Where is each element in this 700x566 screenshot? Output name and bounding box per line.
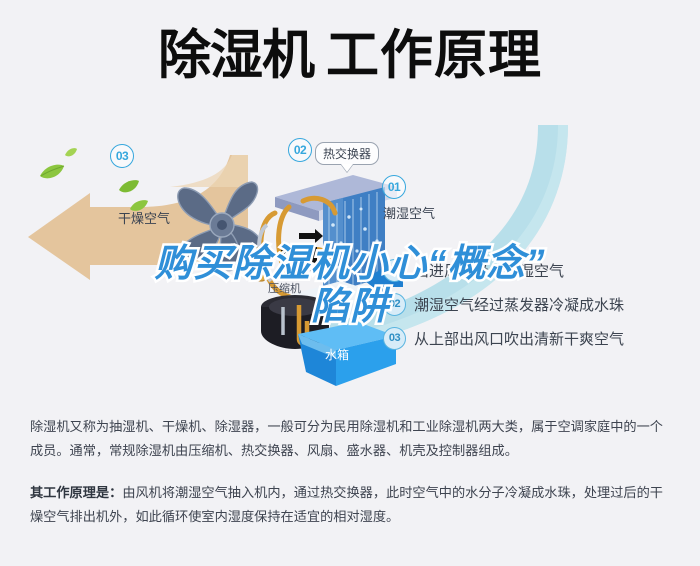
legend-badge: 03 <box>383 327 406 350</box>
callout-heat-exchanger-text: 热交换器 <box>323 147 371 161</box>
legend-item: 03 从上部出风口吹出清新干爽空气 <box>383 321 683 355</box>
leaf-icon <box>38 162 66 182</box>
title-part-1: 除湿机 <box>158 26 314 85</box>
title-part-2: 工作原理 <box>326 26 542 85</box>
article-body: 除湿机又称为抽湿机、干燥机、除湿器，一般可分为民用除湿机和工业除湿机两大类，属于… <box>30 415 675 547</box>
paragraph-2-rest: 由风机将潮湿空气抽入机内，通过热交换器，此时空气中的水分子冷凝成水珠，处理过后的… <box>30 485 663 524</box>
badge-intake-01: 01 <box>382 175 406 199</box>
paragraph-2: 其工作原理是：由风机将潮湿空气抽入机内，通过热交换器，此时空气中的水分子冷凝成水… <box>30 481 675 529</box>
legend-badge: 02 <box>383 293 406 316</box>
paragraph-2-lead: 其工作原理是： <box>30 485 122 500</box>
legend-item: 02 潮湿空气经过蒸发器冷凝成水珠 <box>383 287 683 321</box>
legend-label: 从上部出风口吹出清新干爽空气 <box>414 328 624 349</box>
badge-outlet-03: 03 <box>110 144 134 168</box>
leaf-icon <box>118 178 140 196</box>
badge-exchanger-02: 02 <box>288 138 312 162</box>
label-humid-air: 潮湿空气 <box>383 203 435 222</box>
legend-label: 潮湿空气经过蒸发器冷凝成水珠 <box>414 294 624 315</box>
page-title: 除湿机工作原理 <box>0 28 700 84</box>
label-dry-air: 干燥空气 <box>118 208 170 227</box>
legend-item: 01 由进风口吸入潮湿空气 <box>383 253 683 287</box>
legend-list: 01 由进风口吸入潮湿空气 02 潮湿空气经过蒸发器冷凝成水珠 03 从上部出风… <box>383 253 683 355</box>
label-water-tank: 水箱 <box>325 346 349 363</box>
legend-badge: 01 <box>383 259 406 282</box>
leaf-icon <box>64 146 78 158</box>
paragraph-1: 除湿机又称为抽湿机、干燥机、除湿器，一般可分为民用除湿机和工业除湿机两大类，属于… <box>30 415 675 463</box>
legend-label: 由进风口吸入潮湿空气 <box>414 260 564 281</box>
callout-heat-exchanger: 热交换器 <box>315 142 379 165</box>
infographic-canvas: 除湿机工作原理 <box>0 0 700 566</box>
label-compressor: 压缩机 <box>268 280 301 296</box>
